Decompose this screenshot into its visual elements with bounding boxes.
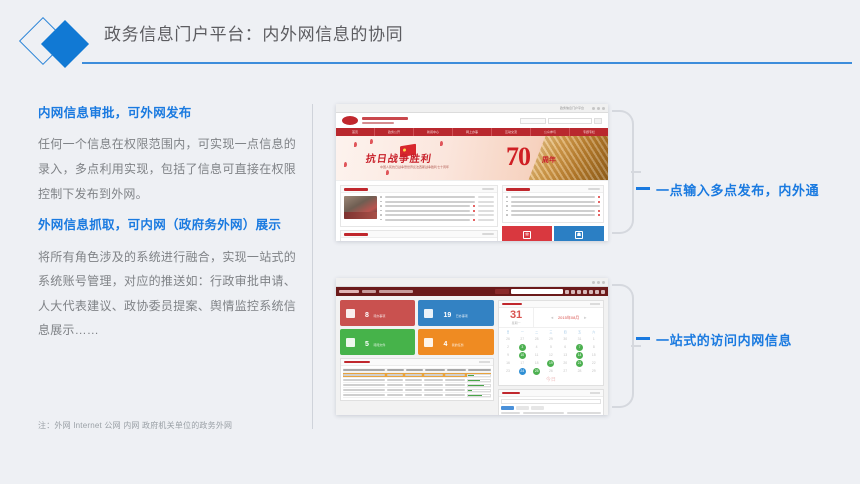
calendar-day-marked[interactable]: 19 (544, 359, 558, 367)
stat-label: 待阅文件 (373, 343, 385, 347)
gear-icon: ✲ (523, 231, 531, 239)
footnote-note: 注：外网 Internet 公网 内网 政府机关单位的政务外网 (38, 420, 308, 431)
todo-table-header (341, 359, 493, 366)
news-row[interactable] (380, 219, 494, 221)
window-minimize-icon[interactable] (592, 281, 595, 284)
calendar-day-selected[interactable]: 24 (515, 367, 529, 375)
nav-item[interactable]: 互动交流 (492, 128, 531, 136)
callout-dash-bottom (636, 337, 650, 340)
calendar-day[interactable]: 15 (587, 351, 601, 359)
contacts-panel (498, 389, 604, 415)
panel-header (341, 231, 497, 238)
banner-headline: 抗日战争胜利 (365, 150, 433, 165)
home-icon[interactable] (577, 290, 581, 294)
stat-tile-todo[interactable]: 8 待办事项 (340, 300, 415, 326)
calendar-day[interactable]: 27 (515, 335, 529, 343)
column-divider (312, 104, 313, 429)
search-scope-select[interactable] (520, 118, 546, 124)
calendar-day-marked[interactable]: 25 (529, 367, 543, 375)
contacts-more-link[interactable] (590, 392, 600, 394)
calendar-week: 2 3 4 5 6 7 8 (501, 343, 601, 351)
banner-suffix: 周年 (542, 155, 556, 165)
progress-bar (467, 379, 491, 382)
panel-header (341, 186, 497, 193)
slide-header: 政务信息门户平台：内外网信息的协同 (0, 0, 860, 78)
quick-button-label (569, 241, 589, 242)
news-thumbnail (344, 196, 377, 219)
contacts-tab-department[interactable] (531, 406, 544, 410)
calendar-day[interactable]: 22 (587, 359, 601, 367)
stat-tile-unread[interactable]: 5 待阅文件 (340, 329, 415, 355)
calendar-day[interactable]: 1 (587, 335, 601, 343)
panel-header (503, 186, 603, 193)
search-input[interactable] (548, 118, 592, 124)
calendar-today: 31 星期一 (499, 308, 534, 327)
banner-gold-relief (528, 136, 608, 181)
grid-icon[interactable] (595, 290, 599, 294)
lead-heading-2: 外网信息抓取，可内网（政府务外网）展示 (38, 216, 296, 235)
window-close-icon[interactable] (602, 107, 605, 110)
panel-body (341, 238, 497, 241)
calendar-week: 16 17 18 19 20 21 22 (501, 359, 601, 367)
calendar-next-icon[interactable]: ► (583, 315, 587, 320)
todo-table-more-link[interactable] (479, 361, 490, 363)
window-maximize-icon[interactable] (597, 107, 600, 110)
announce-row[interactable] (506, 196, 600, 198)
dashboard-page: 8 待办事项 19 已办事项 (336, 287, 608, 415)
calendar-month-label: 2015年08月 (558, 315, 579, 321)
calendar-day-marked[interactable]: 14 (572, 351, 586, 359)
panel-body (503, 193, 603, 222)
window-close-icon[interactable] (602, 281, 605, 284)
panel-title (344, 188, 368, 191)
calendar-day[interactable]: 29 (587, 367, 601, 375)
announce-row[interactable] (506, 214, 600, 216)
contacts-header (499, 390, 603, 397)
screenshot-government-portal: 政务信息门户平台 首页 政务公开 新闻中心 网上办 (336, 104, 608, 241)
contacts-title (502, 392, 520, 395)
search-button[interactable] (594, 118, 602, 124)
nav-item[interactable]: 公众参与 (531, 128, 570, 136)
search-icon[interactable] (565, 290, 569, 294)
quick-button-service-hall[interactable]: ✲ (502, 226, 552, 242)
portal-hero-banner: 抗日战争胜利 70 周年 中国人民抗日战争暨世界反法西斯战争胜利七十周年 (336, 136, 608, 181)
stat-value: 4 (443, 341, 447, 348)
calendar-day[interactable]: 8 (587, 343, 601, 351)
stat-value: 5 (365, 341, 369, 348)
calendar-grid: 日 一 二 三 四 五 六 26 27 28 (499, 328, 603, 385)
search-scope-select[interactable] (495, 289, 509, 294)
body-paragraph-2: 将所有角色涉及的系统进行融合，实现一站式的系统账号管理，对应的推送如：行政审批申… (38, 245, 296, 343)
announce-row[interactable] (506, 205, 600, 207)
todo-table-title (344, 361, 370, 364)
work-calendar: 31 星期一 ◄ 2015年08月 ► 日 (498, 300, 604, 386)
screenshot-intranet-dashboard: 8 待办事项 19 已办事项 (336, 278, 608, 415)
nav-item[interactable]: 网上办事 (453, 128, 492, 136)
message-icon[interactable] (583, 290, 587, 294)
calendar-day[interactable]: 4 (529, 343, 543, 351)
nav-item[interactable]: 首页 (336, 128, 375, 136)
body-paragraph-1: 任何一个信息在权限范围内，可实现一点信息的录入，多点利用实现，包括了信息可直接在… (38, 132, 296, 206)
user-icon: ☗ (575, 231, 583, 239)
portal-masthead (336, 113, 608, 128)
news-row[interactable] (380, 196, 494, 198)
todo-table-body (341, 366, 493, 400)
callout-dash-top (636, 187, 650, 190)
copy-icon (424, 338, 433, 347)
quick-button-public-service[interactable]: ☗ (554, 226, 604, 242)
calendar-day[interactable]: 16 (501, 359, 515, 367)
table-row[interactable] (343, 393, 491, 398)
mail-icon (346, 338, 355, 347)
announce-list (506, 196, 600, 219)
browser-chrome-bottom (336, 278, 608, 287)
portal-main-column (340, 185, 498, 241)
progress-bar (467, 384, 491, 387)
calendar-day[interactable]: 28 (572, 367, 586, 375)
calendar-day[interactable]: 12 (544, 351, 558, 359)
dashboard-brand (339, 290, 359, 293)
calendar-day[interactable]: 30 (558, 335, 572, 343)
calendar-day[interactable]: 28 (529, 335, 543, 343)
calendar-day-marked[interactable]: 21 (572, 359, 586, 367)
calendar-week: 23 24 25 26 27 28 29 (501, 367, 601, 375)
page-title: 政务信息门户平台：内外网信息的协同 (104, 20, 403, 45)
nav-item[interactable]: 政务公开 (375, 128, 414, 136)
panel-body (341, 193, 497, 226)
quick-action-buttons: ✲ ☗ (502, 226, 604, 242)
contacts-tab-frequent[interactable] (516, 406, 529, 410)
calendar-header (499, 301, 603, 308)
calendar-day[interactable]: 29 (544, 335, 558, 343)
contacts-search-input[interactable] (501, 399, 601, 404)
calendar-today-number: 31 (499, 310, 533, 321)
news-row[interactable] (380, 210, 494, 212)
doc-icon (346, 309, 355, 318)
portal-search[interactable] (520, 118, 602, 124)
panel-more-link[interactable] (588, 188, 600, 190)
calendar-day[interactable]: 11 (529, 351, 543, 359)
panel-gov-headlines (340, 230, 498, 241)
calendar-day[interactable]: 23 (501, 367, 515, 375)
calendar-day[interactable]: 13 (558, 351, 572, 359)
nav-item[interactable]: 专题专栏 (570, 128, 608, 136)
portal-side-column: ✲ ☗ (502, 185, 604, 241)
calendar-stamp: 今日 (501, 376, 601, 383)
calendar-day[interactable]: 20 (558, 359, 572, 367)
calendar-month-nav: ◄ 2015年08月 ► (534, 315, 603, 321)
progress-bar (467, 374, 491, 377)
contacts-body (499, 397, 603, 415)
calendar-day-marked[interactable]: 10 (515, 351, 529, 359)
callout-label-bottom: 一站式的访问内网信息 (656, 330, 792, 349)
calendar-day[interactable]: 6 (558, 343, 572, 351)
news-row[interactable] (380, 214, 494, 216)
double-diamond-logo-icon (18, 18, 98, 66)
brace-bottom-nub (631, 345, 641, 347)
topbar-menu-item[interactable] (379, 290, 413, 293)
dashboard-content: 8 待办事项 19 已办事项 (336, 296, 608, 415)
calendar-day[interactable]: 18 (529, 359, 543, 367)
nav-item[interactable]: 新闻中心 (414, 128, 453, 136)
dashboard-main-column: 8 待办事项 19 已办事项 (340, 300, 494, 415)
panel-announcements (502, 185, 604, 223)
calendar-week: 9 10 11 12 13 14 15 (501, 351, 601, 359)
stat-label: 待办事项 (373, 314, 385, 318)
calendar-day[interactable]: 17 (515, 359, 529, 367)
brace-top-nub (631, 171, 641, 173)
logout-icon[interactable] (601, 290, 605, 294)
window-minimize-icon[interactable] (592, 107, 595, 110)
news-list (380, 196, 494, 223)
header-underline (82, 62, 852, 64)
calendar-day-marked[interactable]: 3 (515, 343, 529, 351)
stat-label: 我的任务 (452, 343, 464, 347)
calendar-day[interactable]: 26 (501, 335, 515, 343)
calendar-topbar: 31 星期一 ◄ 2015年08月 ► (499, 308, 603, 328)
stat-label: 已办事项 (456, 314, 468, 318)
stat-value: 19 (443, 312, 451, 319)
panel-more-link[interactable] (482, 188, 494, 190)
panel-title (344, 233, 368, 236)
lead-heading-1: 内网信息审批，可外网发布 (38, 104, 296, 123)
settings-icon[interactable] (589, 290, 593, 294)
calendar-title (502, 303, 522, 306)
calendar-day[interactable]: 26 (544, 367, 558, 375)
portal-sitename (362, 117, 408, 124)
calendar-day[interactable]: 27 (558, 367, 572, 375)
refresh-icon[interactable] (571, 290, 575, 294)
portal-nav[interactable]: 首页 政务公开 新闻中心 网上办事 互动交流 公众参与 专题专栏 (336, 128, 608, 136)
banner-big-number: 70 (506, 142, 530, 172)
portal-page: 首页 政务公开 新闻中心 网上办事 互动交流 公众参与 专题专栏 抗日战争胜利 … (336, 113, 608, 241)
contacts-tabs (501, 406, 601, 410)
panel-more-link[interactable] (482, 233, 494, 235)
banner-subline: 中国人民抗日战争暨世界反法西斯战争胜利七十周年 (380, 165, 449, 169)
left-text-column: 内网信息审批，可外网发布 任何一个信息在权限范围内，可实现一点信息的录入，多点利… (38, 104, 296, 353)
stat-tiles: 8 待办事项 19 已办事项 (340, 300, 494, 355)
dashboard-side-column: 31 星期一 ◄ 2015年08月 ► 日 (498, 300, 604, 415)
window-maximize-icon[interactable] (597, 281, 600, 284)
progress-bar (467, 389, 491, 392)
news-row[interactable] (380, 201, 494, 203)
calendar-day[interactable]: 9 (501, 351, 515, 359)
contacts-tab-all[interactable] (501, 406, 514, 410)
stat-value: 8 (365, 312, 369, 319)
portal-content: ✲ ☗ (336, 181, 608, 241)
stat-tile-done[interactable]: 19 已办事项 (418, 300, 493, 326)
calendar-day[interactable]: 31 (572, 335, 586, 343)
callout-label-top: 一点输入多点发布，内外通 (656, 180, 819, 199)
announce-row[interactable] (506, 210, 600, 212)
topbar-search-area (495, 289, 605, 294)
browser-chrome-top: 政务信息门户平台 (336, 104, 608, 113)
panel-work-news (340, 185, 498, 227)
folder-icon (424, 309, 433, 318)
topbar-menu-item[interactable] (362, 290, 376, 293)
stat-tile-tasks[interactable]: 4 我的任务 (418, 329, 493, 355)
calendar-day[interactable]: 5 (544, 343, 558, 351)
progress-bar (467, 394, 491, 397)
calendar-more-link[interactable] (590, 303, 600, 305)
calendar-prev-icon[interactable]: ◄ (550, 315, 554, 320)
calendar-week: 26 27 28 29 30 31 1 (501, 335, 601, 343)
contacts-row[interactable] (501, 412, 601, 414)
calendar-day-marked[interactable]: 7 (572, 343, 586, 351)
panel-title (506, 188, 530, 191)
dashboard-topbar (336, 287, 608, 296)
browser-tab-label: 政务信息门户平台 (560, 106, 584, 110)
news-row[interactable] (380, 205, 494, 207)
todo-table (340, 358, 494, 401)
quick-button-label (517, 241, 537, 242)
search-input[interactable] (511, 289, 563, 294)
calendar-day[interactable]: 2 (501, 343, 515, 351)
slide-root: 政务信息门户平台：内外网信息的协同 内网信息审批，可外网发布 任何一个信息在权限… (0, 0, 860, 484)
announce-row[interactable] (506, 201, 600, 203)
calendar-today-weekday: 星期一 (499, 321, 533, 325)
portal-seal-icon (342, 116, 358, 125)
